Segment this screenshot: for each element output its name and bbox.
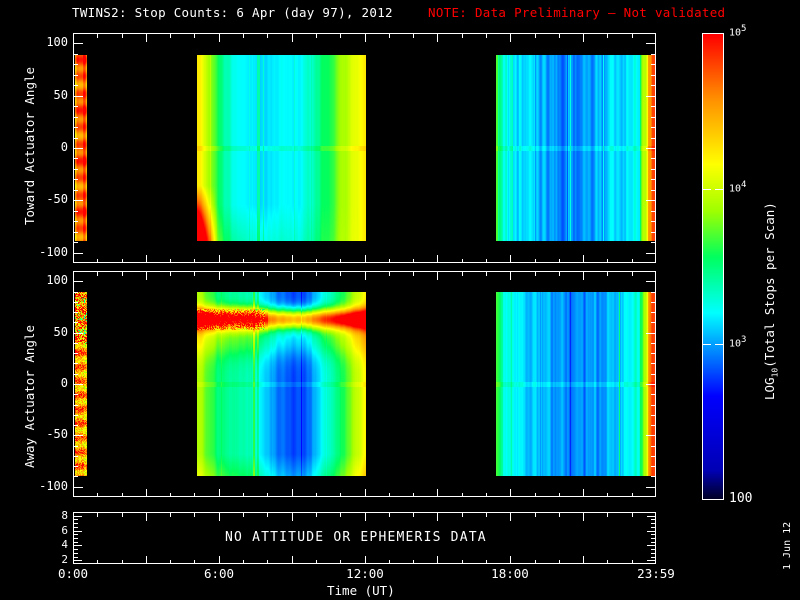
axis-tick bbox=[340, 34, 341, 38]
axis-tick bbox=[646, 384, 655, 385]
colorbar-gradient bbox=[703, 34, 723, 499]
axis-tick bbox=[646, 148, 655, 149]
y-tick-label: 8 bbox=[0, 509, 68, 522]
axis-tick bbox=[243, 513, 244, 517]
axis-tick bbox=[510, 556, 511, 564]
axis-tick bbox=[559, 513, 560, 517]
axis-tick bbox=[365, 255, 366, 263]
y-tick-label: -50 bbox=[0, 192, 68, 206]
axis-tick bbox=[651, 523, 655, 524]
axis-tick bbox=[74, 542, 78, 543]
axis-tick bbox=[146, 272, 147, 280]
axis-tick bbox=[340, 259, 341, 263]
axis-tick bbox=[651, 394, 655, 395]
axis-tick bbox=[74, 148, 83, 149]
axis-tick bbox=[74, 169, 78, 170]
preliminary-warning: NOTE: Data Preliminary — Not validated bbox=[428, 5, 725, 20]
page-title: TWINS2: Stop Counts: 6 Apr (day 97), 201… bbox=[72, 5, 393, 20]
axis-tick bbox=[715, 189, 723, 190]
axis-tick bbox=[559, 493, 560, 497]
axis-tick bbox=[267, 259, 268, 263]
axis-tick bbox=[316, 560, 317, 564]
axis-tick bbox=[74, 519, 78, 520]
axis-tick bbox=[122, 493, 123, 497]
axis-tick bbox=[74, 242, 78, 243]
axis-tick bbox=[651, 456, 655, 457]
axis-tick bbox=[607, 560, 608, 564]
axis-tick bbox=[651, 415, 655, 416]
axis-tick bbox=[559, 34, 560, 38]
axis-tick bbox=[74, 200, 83, 201]
axis-tick bbox=[97, 560, 98, 564]
axis-tick bbox=[389, 34, 390, 38]
axis-tick bbox=[243, 560, 244, 564]
axis-tick bbox=[651, 54, 655, 55]
axis-tick bbox=[74, 179, 78, 180]
axis-tick bbox=[583, 513, 584, 521]
axis-tick bbox=[647, 516, 655, 517]
axis-tick bbox=[607, 34, 608, 38]
axis-tick bbox=[292, 34, 293, 42]
axis-tick bbox=[74, 374, 78, 375]
axis-tick bbox=[74, 545, 82, 546]
axis-tick bbox=[651, 363, 655, 364]
axis-tick bbox=[651, 466, 655, 467]
axis-tick bbox=[389, 560, 390, 564]
axis-tick bbox=[74, 117, 78, 118]
axis-tick bbox=[194, 272, 195, 276]
axis-tick bbox=[651, 292, 655, 293]
colorbar-title: LOG10(Total Stops per Scan) bbox=[762, 202, 780, 400]
axis-tick bbox=[74, 211, 78, 212]
axis-tick bbox=[219, 255, 220, 263]
axis-tick bbox=[74, 466, 78, 467]
axis-tick bbox=[122, 513, 123, 517]
axis-tick bbox=[651, 476, 655, 477]
axis-tick bbox=[651, 138, 655, 139]
axis-tick bbox=[535, 259, 536, 263]
colorbar-tick-label: 104 bbox=[729, 180, 746, 194]
y-tick-label: 100 bbox=[0, 273, 68, 287]
axis-tick bbox=[535, 513, 536, 517]
axis-tick bbox=[74, 553, 78, 554]
no-data-message: NO ATTITUDE OR EPHEMERIS DATA bbox=[225, 530, 487, 545]
axis-tick bbox=[632, 34, 633, 38]
axis-tick bbox=[74, 516, 82, 517]
axis-tick bbox=[632, 560, 633, 564]
axis-tick bbox=[651, 85, 655, 86]
axis-tick bbox=[646, 487, 655, 488]
axis-tick bbox=[267, 513, 268, 517]
axis-tick bbox=[703, 189, 711, 190]
axis-tick bbox=[74, 405, 78, 406]
axis-tick bbox=[74, 312, 78, 313]
axis-tick bbox=[437, 34, 438, 42]
axis-tick bbox=[74, 527, 78, 528]
colorbar-title-pre: LOG bbox=[762, 377, 777, 400]
axis-tick bbox=[535, 560, 536, 564]
axis-tick bbox=[194, 259, 195, 263]
axis-tick bbox=[651, 106, 655, 107]
axis-tick bbox=[437, 272, 438, 280]
axis-tick bbox=[74, 127, 78, 128]
y-tick-label: -100 bbox=[0, 245, 68, 259]
axis-tick bbox=[74, 158, 78, 159]
axis-tick bbox=[651, 64, 655, 65]
axis-tick bbox=[74, 560, 82, 561]
axis-tick bbox=[486, 34, 487, 38]
axis-tick bbox=[74, 333, 83, 334]
axis-tick bbox=[74, 549, 78, 550]
axis-tick bbox=[74, 523, 78, 524]
axis-tick bbox=[74, 343, 78, 344]
axis-tick bbox=[651, 232, 655, 233]
axis-tick bbox=[632, 272, 633, 276]
axis-tick bbox=[559, 560, 560, 564]
axis-tick bbox=[194, 493, 195, 497]
axis-tick bbox=[651, 405, 655, 406]
axis-tick bbox=[389, 493, 390, 497]
axis-tick bbox=[146, 556, 147, 564]
y-tick-label: -50 bbox=[0, 427, 68, 441]
y-tick-label: -100 bbox=[0, 479, 68, 493]
axis-tick bbox=[74, 435, 83, 436]
axis-tick bbox=[583, 255, 584, 263]
axis-tick bbox=[651, 158, 655, 159]
axis-tick bbox=[583, 556, 584, 564]
axis-tick bbox=[632, 493, 633, 497]
x-tick-label: 23:59 bbox=[626, 566, 686, 581]
axis-tick bbox=[74, 476, 78, 477]
axis-tick bbox=[122, 560, 123, 564]
axis-tick bbox=[510, 34, 511, 42]
axis-tick bbox=[486, 272, 487, 276]
axis-tick bbox=[365, 34, 366, 42]
axis-tick bbox=[389, 259, 390, 263]
axis-tick bbox=[74, 456, 78, 457]
axis-tick bbox=[243, 34, 244, 38]
axis-tick bbox=[73, 272, 74, 280]
axis-tick bbox=[146, 255, 147, 263]
x-tick-label: 12:00 bbox=[335, 566, 395, 581]
axis-tick bbox=[583, 489, 584, 497]
axis-tick bbox=[316, 259, 317, 263]
axis-tick bbox=[219, 272, 220, 280]
axis-tick bbox=[97, 272, 98, 276]
axis-tick bbox=[365, 556, 366, 564]
axis-tick bbox=[437, 513, 438, 521]
axis-tick bbox=[646, 43, 655, 44]
axis-tick bbox=[651, 425, 655, 426]
axis-tick bbox=[632, 513, 633, 517]
axis-tick bbox=[316, 513, 317, 517]
axis-tick bbox=[510, 272, 511, 280]
axis-tick bbox=[365, 272, 366, 280]
axis-tick bbox=[389, 513, 390, 517]
axis-tick bbox=[292, 556, 293, 564]
axis-tick bbox=[243, 493, 244, 497]
axis-tick bbox=[462, 493, 463, 497]
axis-tick bbox=[170, 560, 171, 564]
axis-tick bbox=[646, 253, 655, 254]
axis-tick bbox=[462, 513, 463, 517]
axis-tick bbox=[267, 34, 268, 38]
axis-tick bbox=[651, 527, 655, 528]
axis-tick bbox=[74, 302, 78, 303]
colorbar-tick-label: 103 bbox=[729, 335, 746, 349]
axis-tick bbox=[219, 34, 220, 42]
axis-tick bbox=[146, 489, 147, 497]
x-tick-label: 0:00 bbox=[43, 566, 103, 581]
axis-tick bbox=[74, 190, 78, 191]
axis-tick bbox=[535, 493, 536, 497]
axis-tick bbox=[74, 534, 78, 535]
axis-tick bbox=[316, 34, 317, 38]
axis-tick bbox=[413, 34, 414, 38]
axis-tick bbox=[292, 272, 293, 280]
axis-tick bbox=[437, 489, 438, 497]
axis-tick bbox=[97, 34, 98, 38]
axis-tick bbox=[74, 232, 78, 233]
axis-tick bbox=[647, 545, 655, 546]
axis-tick bbox=[74, 96, 83, 97]
axis-tick bbox=[413, 560, 414, 564]
axis-tick bbox=[122, 259, 123, 263]
axis-tick bbox=[74, 292, 78, 293]
axis-tick bbox=[486, 560, 487, 564]
axis-tick bbox=[97, 513, 98, 517]
axis-tick bbox=[510, 489, 511, 497]
axis-tick bbox=[651, 374, 655, 375]
axis-tick bbox=[74, 221, 78, 222]
axis-tick bbox=[651, 190, 655, 191]
axis-tick bbox=[170, 513, 171, 517]
axis-tick bbox=[365, 489, 366, 497]
axis-tick bbox=[583, 272, 584, 280]
colorbar-tick-label: 100 bbox=[729, 491, 752, 506]
axis-tick bbox=[462, 34, 463, 38]
axis-tick bbox=[462, 259, 463, 263]
axis-tick bbox=[646, 200, 655, 201]
panel-away-frame bbox=[73, 271, 656, 497]
axis-tick bbox=[651, 179, 655, 180]
axis-tick bbox=[607, 259, 608, 263]
axis-tick bbox=[73, 34, 74, 42]
axis-tick bbox=[651, 534, 655, 535]
axis-tick bbox=[651, 538, 655, 539]
axis-tick bbox=[583, 34, 584, 42]
axis-tick bbox=[74, 43, 83, 44]
axis-tick bbox=[74, 75, 78, 76]
axis-tick bbox=[74, 487, 83, 488]
colorbar-gradient-frame bbox=[702, 33, 724, 500]
axis-tick bbox=[651, 542, 655, 543]
axis-tick bbox=[74, 363, 78, 364]
panel-away-heatmap bbox=[74, 272, 655, 496]
colorbar-tick-label: 105 bbox=[729, 24, 746, 38]
axis-tick bbox=[267, 560, 268, 564]
axis-tick bbox=[74, 281, 83, 282]
axis-tick bbox=[74, 394, 78, 395]
axis-tick bbox=[74, 425, 78, 426]
colorbar-title-post: (Total Stops per Scan) bbox=[762, 202, 777, 368]
colorbar-title-sub: 10 bbox=[771, 368, 780, 378]
axis-tick bbox=[651, 519, 655, 520]
axis-tick bbox=[632, 259, 633, 263]
axis-tick bbox=[219, 489, 220, 497]
plot-root: TWINS2: Stop Counts: 6 Apr (day 97), 201… bbox=[0, 0, 800, 600]
axis-tick bbox=[316, 493, 317, 497]
axis-tick bbox=[340, 513, 341, 517]
axis-tick bbox=[647, 560, 655, 561]
axis-tick bbox=[219, 556, 220, 564]
axis-tick bbox=[607, 493, 608, 497]
axis-tick bbox=[651, 211, 655, 212]
axis-tick bbox=[74, 384, 83, 385]
axis-tick bbox=[170, 493, 171, 497]
axis-tick bbox=[651, 127, 655, 128]
axis-tick bbox=[74, 64, 78, 65]
axis-tick bbox=[74, 138, 78, 139]
axis-tick bbox=[651, 446, 655, 447]
axis-tick bbox=[73, 255, 74, 263]
y-tick-label: 50 bbox=[0, 88, 68, 102]
axis-tick bbox=[267, 493, 268, 497]
axis-tick bbox=[122, 272, 123, 276]
axis-tick bbox=[646, 281, 655, 282]
axis-tick bbox=[170, 259, 171, 263]
axis-tick bbox=[559, 272, 560, 276]
axis-tick bbox=[194, 560, 195, 564]
axis-tick bbox=[74, 538, 78, 539]
axis-tick bbox=[219, 513, 220, 521]
axis-tick bbox=[535, 272, 536, 276]
axis-tick bbox=[74, 531, 82, 532]
axis-tick bbox=[486, 259, 487, 263]
axis-tick bbox=[74, 446, 78, 447]
axis-tick bbox=[170, 272, 171, 276]
axis-tick bbox=[292, 255, 293, 263]
axis-tick bbox=[607, 272, 608, 276]
y-tick-label: 0 bbox=[0, 140, 68, 154]
axis-tick bbox=[535, 34, 536, 38]
axis-tick bbox=[316, 272, 317, 276]
axis-tick bbox=[194, 34, 195, 38]
axis-tick bbox=[74, 415, 78, 416]
axis-tick bbox=[74, 253, 83, 254]
axis-tick bbox=[651, 221, 655, 222]
panel-away-ylabel: Away Actuator Angle bbox=[22, 325, 37, 468]
axis-tick bbox=[292, 489, 293, 497]
y-tick-label: 4 bbox=[0, 538, 68, 551]
axis-tick bbox=[646, 333, 655, 334]
axis-tick bbox=[74, 557, 78, 558]
axis-tick bbox=[170, 34, 171, 38]
axis-tick bbox=[389, 272, 390, 276]
axis-tick bbox=[651, 557, 655, 558]
x-axis-label: Time (UT) bbox=[327, 583, 395, 598]
axis-tick bbox=[340, 493, 341, 497]
axis-tick bbox=[651, 302, 655, 303]
x-tick-label: 18:00 bbox=[480, 566, 540, 581]
axis-tick bbox=[462, 560, 463, 564]
axis-tick bbox=[340, 272, 341, 276]
axis-tick bbox=[413, 259, 414, 263]
axis-tick bbox=[365, 513, 366, 521]
axis-tick bbox=[74, 85, 78, 86]
axis-tick bbox=[715, 344, 723, 345]
y-tick-label: 0 bbox=[0, 376, 68, 390]
axis-tick bbox=[559, 259, 560, 263]
axis-tick bbox=[74, 322, 78, 323]
axis-tick bbox=[267, 272, 268, 276]
y-tick-label: 50 bbox=[0, 325, 68, 339]
axis-tick bbox=[651, 242, 655, 243]
axis-tick bbox=[413, 513, 414, 517]
axis-tick bbox=[651, 312, 655, 313]
x-tick-label: 6:00 bbox=[189, 566, 249, 581]
axis-tick bbox=[122, 34, 123, 38]
axis-tick bbox=[146, 34, 147, 42]
axis-tick bbox=[646, 435, 655, 436]
axis-tick bbox=[437, 255, 438, 263]
axis-tick bbox=[243, 272, 244, 276]
axis-tick bbox=[651, 553, 655, 554]
date-stamp: 1 Jun 12 bbox=[782, 522, 793, 570]
axis-tick bbox=[462, 272, 463, 276]
axis-tick bbox=[651, 322, 655, 323]
axis-tick bbox=[510, 513, 511, 521]
axis-tick bbox=[97, 493, 98, 497]
axis-tick bbox=[243, 259, 244, 263]
axis-tick bbox=[194, 513, 195, 517]
axis-tick bbox=[73, 489, 74, 497]
axis-tick bbox=[97, 259, 98, 263]
axis-tick bbox=[74, 353, 78, 354]
axis-tick bbox=[413, 493, 414, 497]
axis-tick bbox=[437, 556, 438, 564]
axis-tick bbox=[651, 117, 655, 118]
axis-tick bbox=[646, 96, 655, 97]
axis-tick bbox=[651, 353, 655, 354]
axis-tick bbox=[651, 75, 655, 76]
y-tick-label: 100 bbox=[0, 35, 68, 49]
panel-toward-frame bbox=[73, 33, 656, 263]
axis-tick bbox=[651, 549, 655, 550]
axis-tick bbox=[74, 54, 78, 55]
axis-tick bbox=[413, 272, 414, 276]
axis-tick bbox=[510, 255, 511, 263]
y-tick-label: 2 bbox=[0, 553, 68, 566]
axis-tick bbox=[292, 513, 293, 521]
axis-tick bbox=[74, 106, 78, 107]
axis-tick bbox=[651, 169, 655, 170]
axis-tick bbox=[607, 513, 608, 517]
axis-tick bbox=[340, 560, 341, 564]
axis-tick bbox=[651, 343, 655, 344]
axis-tick bbox=[647, 531, 655, 532]
axis-tick bbox=[486, 513, 487, 517]
axis-tick bbox=[703, 344, 711, 345]
y-tick-label: 6 bbox=[0, 524, 68, 537]
panel-toward-heatmap bbox=[74, 34, 655, 262]
axis-tick bbox=[486, 493, 487, 497]
axis-tick bbox=[146, 513, 147, 521]
